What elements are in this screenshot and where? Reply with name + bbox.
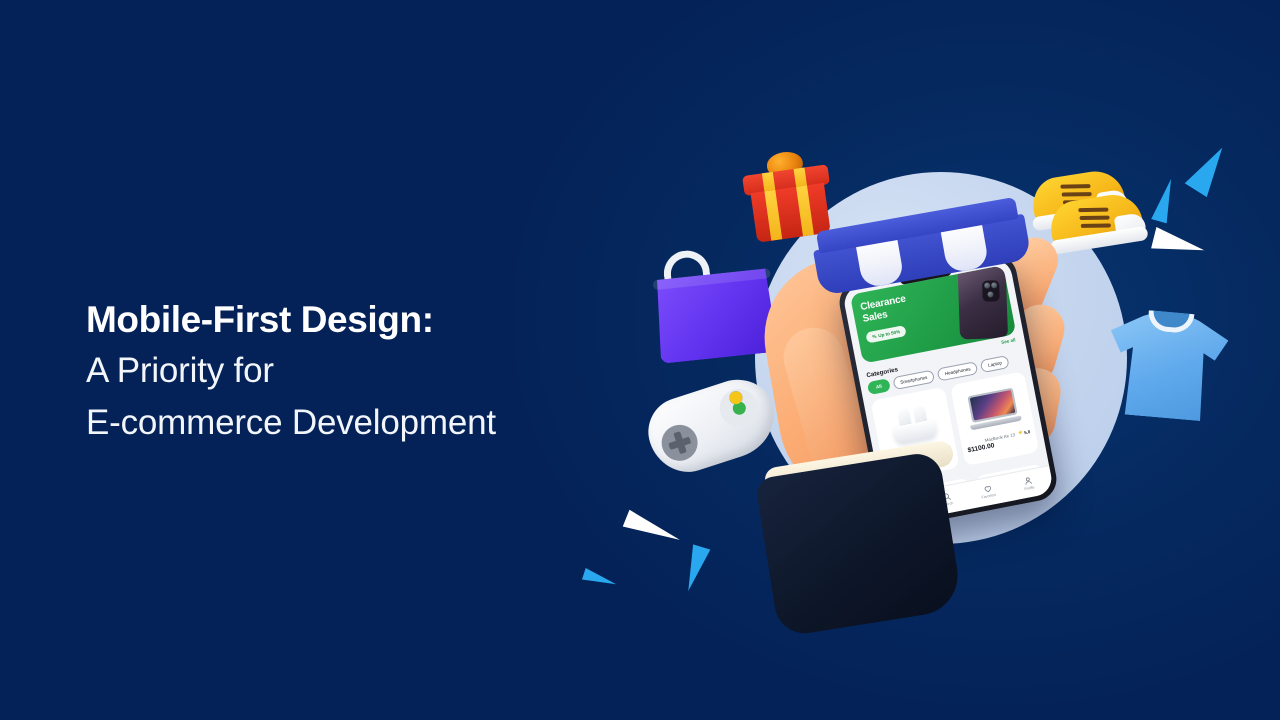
category-chip-all[interactable]: All — [867, 378, 891, 395]
headline-block: Mobile-First Design: A Priority for E-co… — [86, 296, 726, 450]
spark-cyan-right — [1151, 177, 1179, 224]
discount-badge-label: Up to 50% — [878, 329, 901, 338]
spark-cyan-left-lower — [680, 544, 711, 593]
spark-cyan-upper-right — [1185, 141, 1234, 197]
t-shirt-icon — [1104, 307, 1231, 423]
person-icon — [1023, 475, 1034, 486]
spark-cyan-far-left — [582, 568, 618, 590]
rating-value: 5.0 — [1024, 429, 1031, 435]
heart-icon — [982, 483, 993, 494]
shopping-bag-icon — [649, 240, 778, 364]
clearance-title: Clearance Sales — [859, 290, 926, 326]
tab-favorites[interactable]: Favorites — [979, 482, 996, 499]
sleeve — [755, 450, 964, 637]
product-card-macbook[interactable]: MacBook Air 13 ★ 5.0 $1100.00 — [950, 371, 1039, 466]
headline-line-3: E-commerce Development — [86, 397, 726, 450]
promo-phone-image — [958, 266, 1008, 340]
star-icon: ★ — [1018, 430, 1024, 437]
tab-profile-label: Profile — [1024, 485, 1035, 491]
banner-canvas: Mobile-First Design: A Priority for E-co… — [0, 0, 1280, 720]
headline-line-2: A Priority for — [86, 345, 726, 398]
percent-icon: % — [872, 334, 877, 340]
tab-profile[interactable]: Profile — [1022, 475, 1035, 491]
headline-line-1: Mobile-First Design: — [86, 296, 726, 345]
spark-white-right — [1151, 227, 1207, 261]
spark-white-left — [623, 510, 684, 548]
discount-badge: % Up to 50% — [865, 325, 907, 343]
